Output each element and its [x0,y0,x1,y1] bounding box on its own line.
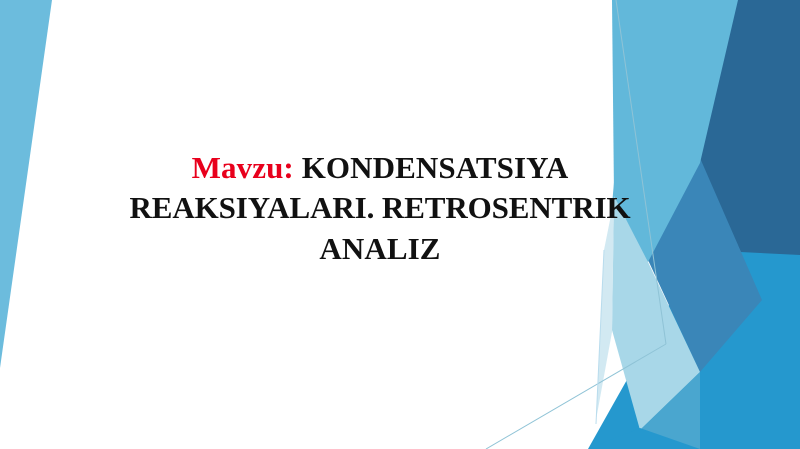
presentation-slide: Mavzu: KONDENSATSIYA REAKSIYALARI. RETRO… [0,0,800,449]
hairline-diagonal-lower [486,344,666,449]
bottom-center-blue-triangle-shape [588,428,700,449]
title-topic-label: Mavzu: [192,150,294,185]
title-line-2: REAKSIYALARI. RETROSENTRIK [70,188,690,228]
title-line-3: ANALIZ [70,229,690,269]
hairline-accent-short [596,250,604,424]
title-line-1-rest: KONDENSATSIYA [294,150,568,185]
lower-mid-blue-wedge-shape [612,372,700,449]
bottom-right-bright-blue-shape [588,250,800,449]
right-navy-band-shape [700,0,800,300]
slide-title-block: Mavzu: KONDENSATSIYA REAKSIYALARI. RETRO… [70,148,690,269]
title-line-1: Mavzu: KONDENSATSIYA [70,148,690,188]
left-blue-wedge-shape [0,0,52,368]
